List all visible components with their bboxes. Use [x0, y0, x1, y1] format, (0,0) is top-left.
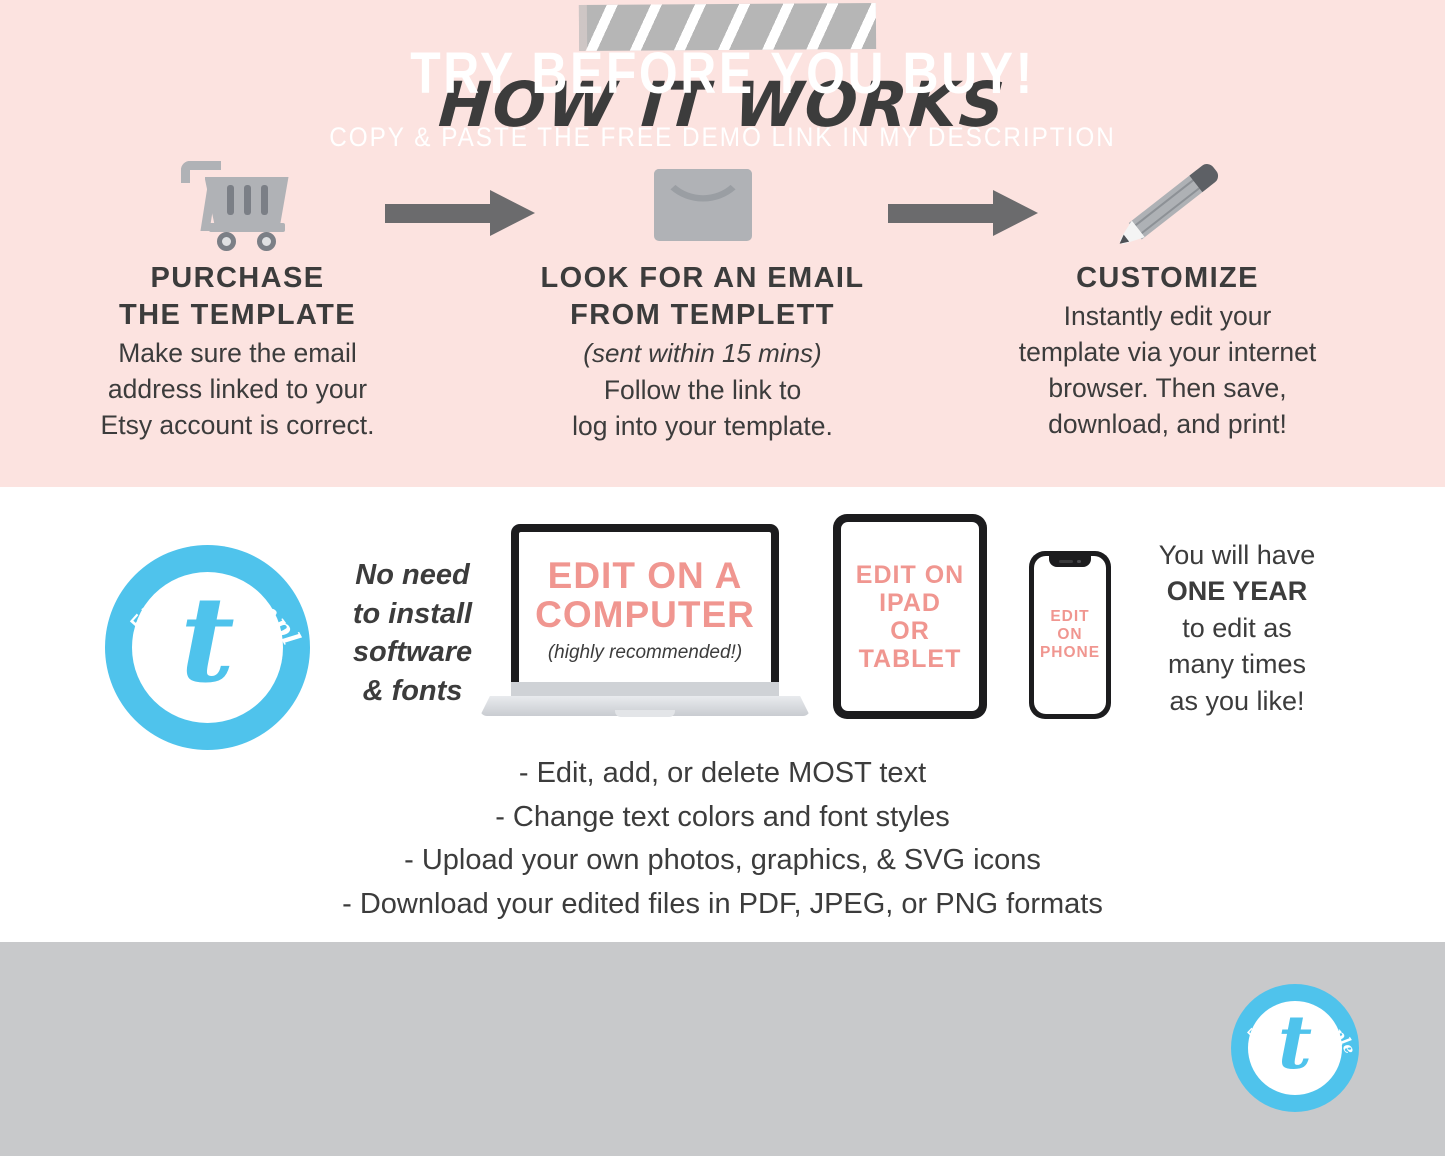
phone-title-line: EDIT: [1040, 608, 1100, 626]
step-heading-line: LOOK FOR AN EMAIL: [475, 260, 930, 297]
laptop-front-notch: [615, 710, 675, 717]
laptop-lid: EDIT ON A COMPUTER (highly recommended!): [511, 524, 779, 697]
list-item: - Download your edited files in PDF, JPE…: [0, 883, 1445, 927]
one-year-line: many times: [1112, 646, 1362, 682]
one-year-line: to edit as: [1112, 610, 1362, 646]
step-body-line: Instantly edit your: [940, 298, 1395, 334]
laptop-title-line: COMPUTER: [535, 596, 755, 635]
phone-notch: [1049, 556, 1091, 567]
step-body: Make sure the email address linked to yo…: [10, 335, 465, 443]
tablet-title-line: IPAD: [856, 589, 964, 617]
cart-slot: [227, 185, 234, 215]
phone-icon: EDIT ON PHONE: [1029, 551, 1111, 719]
phone-title-line: ON: [1040, 626, 1100, 644]
laptop-screen: EDIT ON A COMPUTER (highly recommended!): [519, 532, 771, 689]
step-body-line: template via your internet: [940, 334, 1395, 370]
list-item: - Change text colors and font styles: [0, 796, 1445, 840]
step-icon-wrap: [475, 150, 930, 260]
step-purchase: PURCHASE THE TEMPLATE Make sure the emai…: [10, 150, 465, 444]
step-body-line: address linked to your: [10, 371, 465, 407]
step-body-line: browser. Then save,: [940, 370, 1395, 406]
step-body-line: log into your template.: [475, 408, 930, 444]
one-year-line: as you like!: [1112, 683, 1362, 719]
cart-bottom-bar: [209, 223, 285, 232]
laptop-note: (highly recommended!): [548, 642, 742, 664]
footer-headline: TRY BEFORE YOU BUY!: [101, 40, 1344, 107]
phone-title: EDIT ON PHONE: [1040, 608, 1100, 663]
footer-banner: [0, 942, 1445, 1156]
no-need-line: No need: [325, 556, 500, 595]
step-heading-line: FROM TEMPLETT: [475, 297, 930, 334]
laptop-icon: EDIT ON A COMPUTER (highly recommended!): [480, 524, 810, 739]
step-body-line: download, and print!: [940, 406, 1395, 442]
no-need-line: & fonts: [325, 672, 500, 711]
step-customize: CUSTOMIZE Instantly edit your template v…: [940, 150, 1395, 444]
step-body-line: Etsy account is correct.: [10, 407, 465, 443]
envelope-icon: [654, 169, 752, 241]
step-icon-wrap: [10, 150, 465, 260]
no-software-needed-text: No need to install software & fonts: [325, 556, 500, 710]
step-icon-wrap: [940, 150, 1395, 260]
cart-slot: [261, 185, 268, 215]
step-heading-line: THE TEMPLATE: [10, 297, 465, 334]
step-heading: LOOK FOR AN EMAIL FROM TEMPLETT: [475, 260, 930, 334]
tablet-icon: EDIT ON IPAD OR TABLET: [833, 514, 987, 719]
tablet-title: EDIT ON IPAD OR TABLET: [856, 561, 964, 673]
shopping-cart-icon: [179, 159, 297, 251]
phone-speaker: [1059, 560, 1073, 563]
phone-camera: [1077, 560, 1081, 564]
step-look-for-email: LOOK FOR AN EMAIL FROM TEMPLETT (sent wi…: [475, 150, 930, 444]
tablet-title-line: TABLET: [856, 645, 964, 673]
step-heading: PURCHASE THE TEMPLATE: [10, 260, 465, 334]
cart-wheel: [257, 232, 276, 251]
badge-letter-t: t: [1231, 1006, 1359, 1080]
phone-title-line: PHONE: [1040, 644, 1100, 662]
step-note: (sent within 15 mins): [475, 336, 930, 371]
templett-badge-footer: EDIT WITH templett EDITABLE TEMPLATE t: [1231, 984, 1359, 1112]
no-need-line: software: [325, 633, 500, 672]
templett-badge: EDIT WITH templett EDITABLE TEMPLATE t: [105, 545, 310, 750]
list-item: - Edit, add, or delete MOST text: [0, 752, 1445, 796]
laptop-title-line: EDIT ON A: [535, 557, 755, 596]
step-body: Follow the link to log into your templat…: [475, 372, 930, 444]
tablet-title-line: EDIT ON: [856, 561, 964, 589]
laptop-title: EDIT ON A COMPUTER: [535, 557, 755, 635]
steps-row: PURCHASE THE TEMPLATE Make sure the emai…: [0, 150, 1445, 444]
step-body-line: Make sure the email: [10, 335, 465, 371]
one-year-line: You will have: [1112, 537, 1362, 573]
badge-letter-t: t: [105, 581, 310, 699]
cart-slot: [244, 185, 251, 215]
phone-screen: EDIT ON PHONE: [1034, 556, 1106, 714]
feature-bullet-list: - Edit, add, or delete MOST text - Chang…: [0, 752, 1445, 926]
infographic-page: HOW IT WORKS: [0, 0, 1445, 1156]
step-body-line: Follow the link to: [475, 372, 930, 408]
cart-wheel: [217, 232, 236, 251]
tablet-title-line: OR: [856, 617, 964, 645]
one-year-emphasis: ONE YEAR: [1167, 576, 1308, 606]
no-need-line: to install: [325, 595, 500, 634]
step-heading-line: PURCHASE: [10, 260, 465, 297]
one-year-text: You will have ONE YEAR to edit as many t…: [1112, 537, 1362, 719]
step-body: Instantly edit your template via your in…: [940, 298, 1395, 442]
tablet-screen: EDIT ON IPAD OR TABLET: [841, 522, 979, 711]
footer-subline: COPY & PASTE THE FREE DEMO LINK IN MY DE…: [72, 122, 1373, 153]
list-item: - Upload your own photos, graphics, & SV…: [0, 839, 1445, 883]
